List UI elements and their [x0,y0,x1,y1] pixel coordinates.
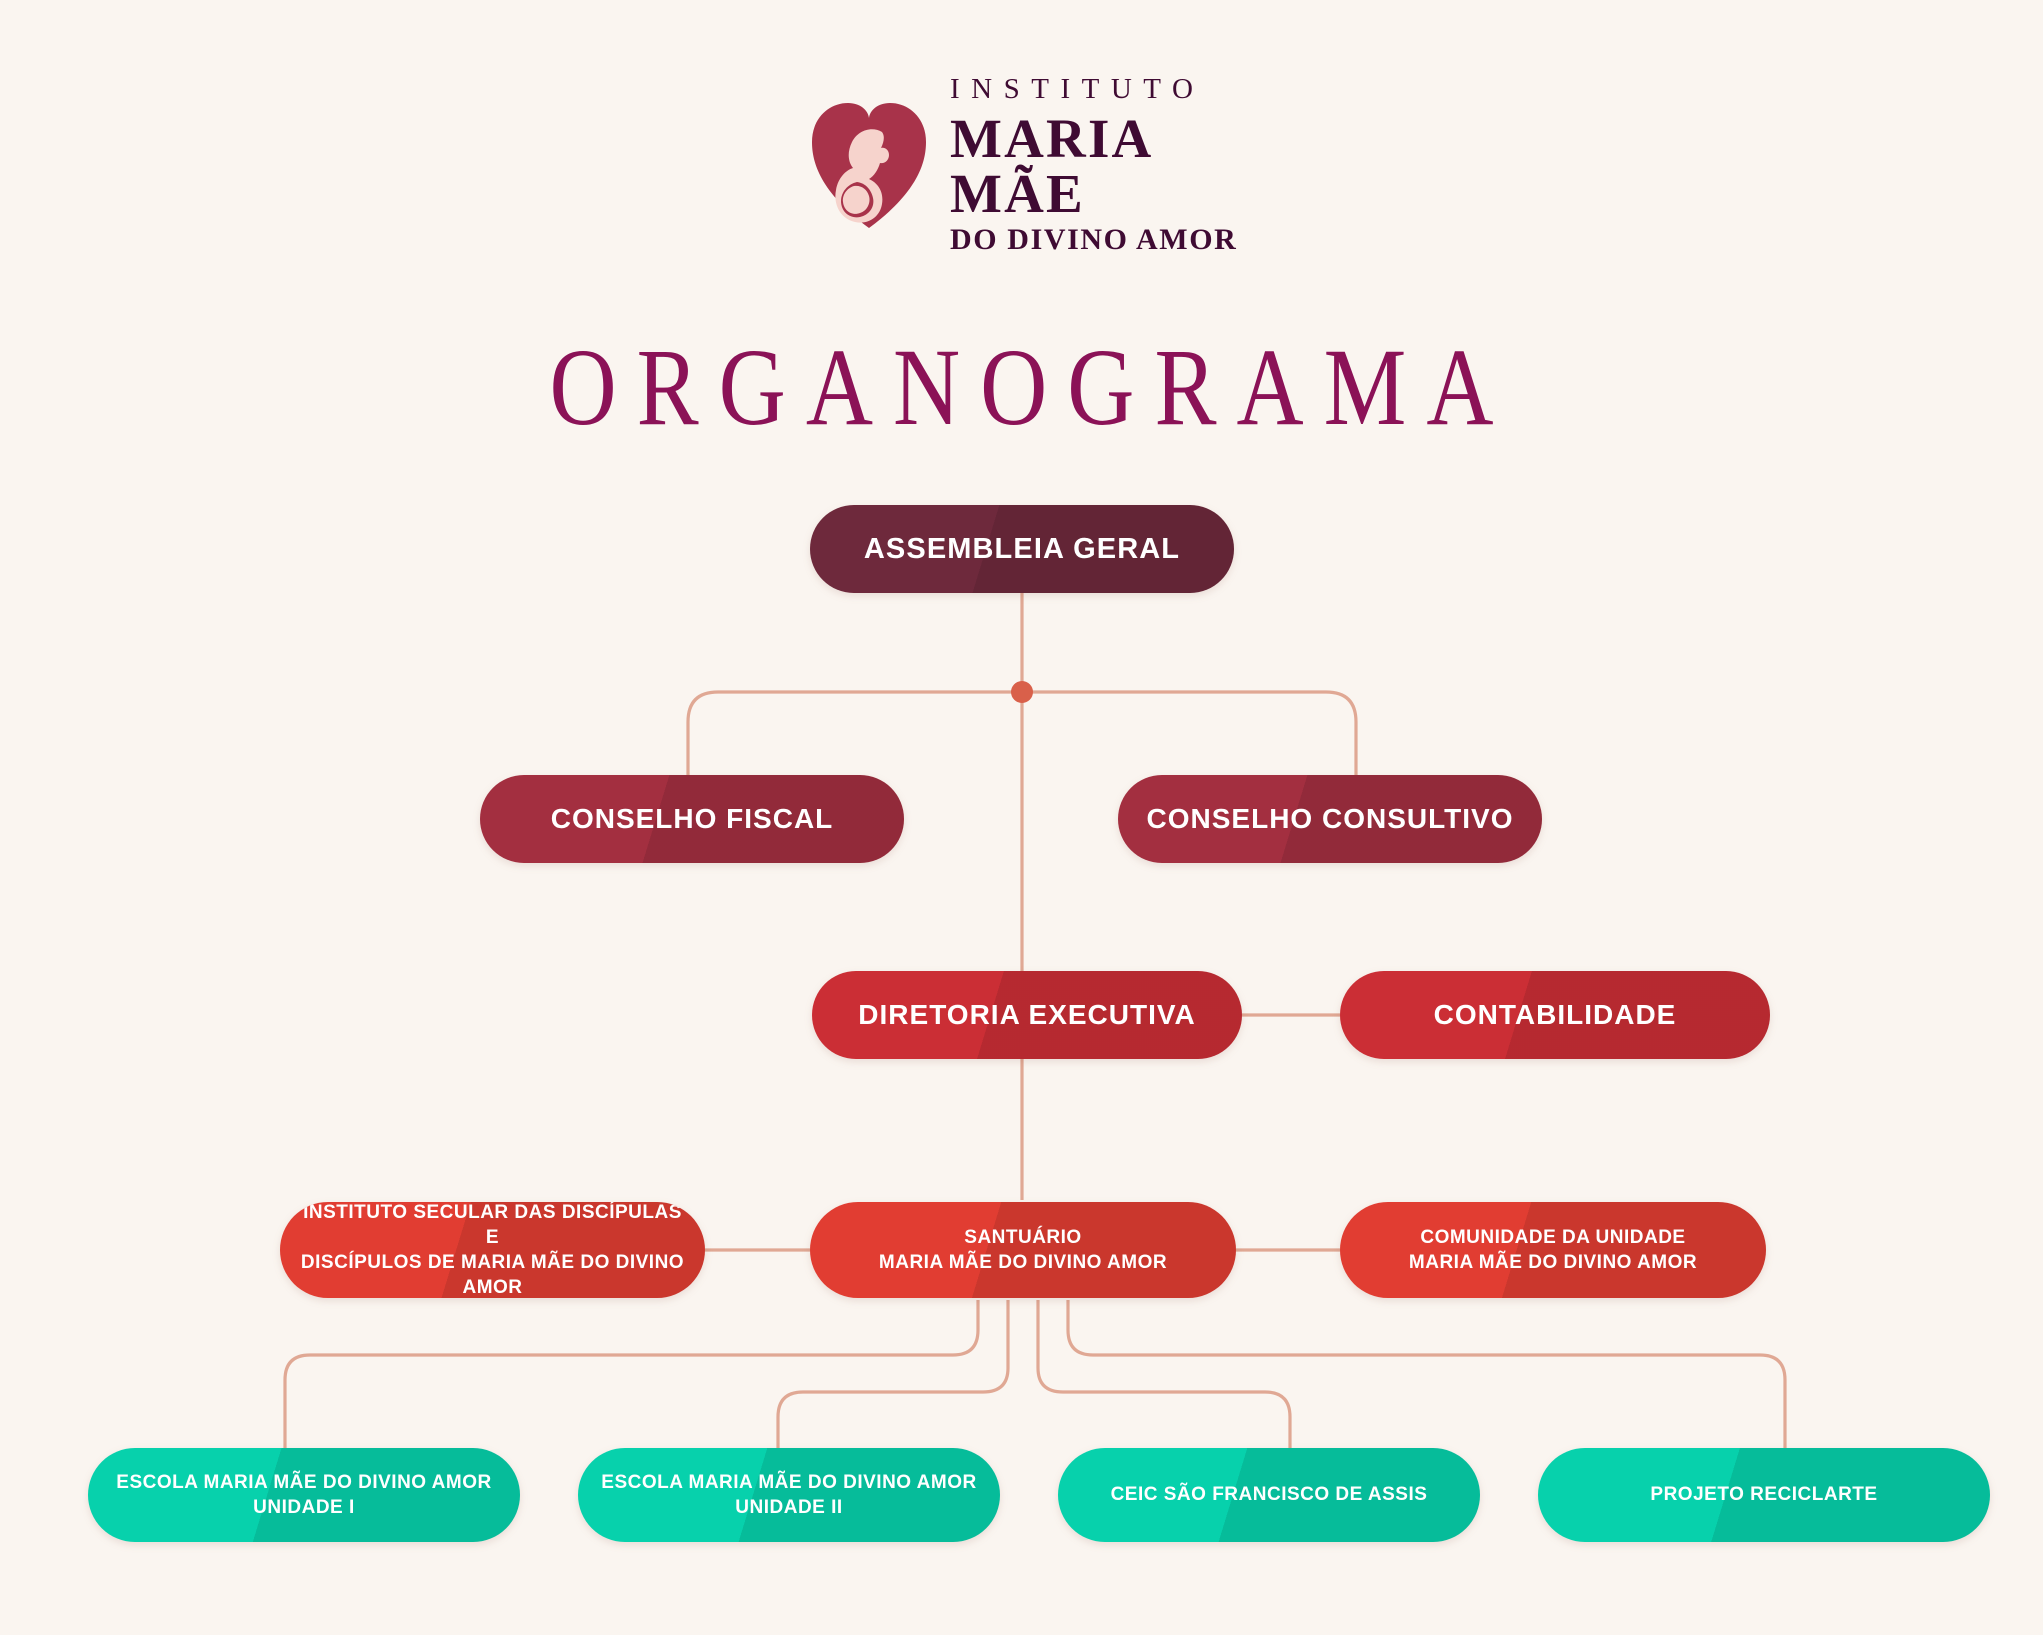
node-projeto-reciclarte[interactable]: PROJETO RECICLARTE [1538,1448,1990,1542]
node-label-line-2: DISCÍPULOS DE MARIA MÃE DO DIVINO AMOR [301,1252,684,1298]
node-label: ESCOLA MARIA MÃE DO DIVINO AMOR UNIDADE … [98,1470,509,1520]
node-ceic-sao-francisco[interactable]: CEIC SÃO FRANCISCO DE ASSIS [1058,1448,1480,1542]
node-assembleia-geral[interactable]: ASSEMBLEIA GERAL [810,505,1234,593]
node-label-line-2: MARIA MÃE DO DIVINO AMOR [1409,1252,1697,1273]
node-label-line-1: ESCOLA MARIA MÃE DO DIVINO AMOR [116,1472,491,1493]
edge-santuario-to-escola-unidade-i [285,1300,978,1448]
logo-line-maria-mae: MARIA MÃE [950,111,1270,221]
logo-line-do-divino-amor: DO DIVINO AMOR [950,225,1270,255]
node-escola-unidade-i[interactable]: ESCOLA MARIA MÃE DO DIVINO AMOR UNIDADE … [88,1448,520,1542]
node-label: CONTABILIDADE [1416,997,1695,1034]
node-label: ESCOLA MARIA MÃE DO DIVINO AMOR UNIDADE … [583,1470,994,1520]
node-comunidade-da-unidade[interactable]: COMUNIDADE DA UNIDADE MARIA MÃE DO DIVIN… [1340,1202,1766,1298]
node-contabilidade[interactable]: CONTABILIDADE [1340,971,1770,1059]
organization-logo: INSTITUTO MARIA MÃE DO DIVINO AMOR [810,95,1270,235]
node-label: COMUNIDADE DA UNIDADE MARIA MÃE DO DIVIN… [1391,1225,1715,1275]
logo-line-instituto: INSTITUTO [950,75,1270,104]
node-instituto-secular[interactable]: INSTITUTO SECULAR DAS DISCÍPULAS E DISCÍ… [280,1202,705,1298]
edge-santuario-to-escola-unidade-ii [778,1300,1008,1448]
node-label-line-2: UNIDADE II [735,1497,842,1518]
node-label: DIRETORIA EXECUTIVA [840,997,1213,1034]
node-label: CONSELHO FISCAL [533,801,852,838]
node-label-line-1: SANTUÁRIO [964,1227,1081,1248]
node-escola-unidade-ii[interactable]: ESCOLA MARIA MÃE DO DIVINO AMOR UNIDADE … [578,1448,1000,1542]
node-label-line-1: COMUNIDADE DA UNIDADE [1420,1227,1685,1248]
page-title: ORGANOGRAMA [0,325,2043,451]
junction-dot [1011,681,1033,703]
node-label: SANTUÁRIO MARIA MÃE DO DIVINO AMOR [861,1225,1185,1275]
node-label: PROJETO RECICLARTE [1632,1482,1895,1507]
edge-santuario-to-projeto-reciclarte [1068,1300,1785,1448]
node-diretoria-executiva[interactable]: DIRETORIA EXECUTIVA [812,971,1242,1059]
node-santuario[interactable]: SANTUÁRIO MARIA MÃE DO DIVINO AMOR [810,1202,1236,1298]
node-label-line-2: UNIDADE I [253,1497,355,1518]
node-conselho-consultivo[interactable]: CONSELHO CONSULTIVO [1118,775,1542,863]
edge-santuario-to-ceic-sao-francisco [1038,1300,1290,1448]
node-conselho-fiscal[interactable]: CONSELHO FISCAL [480,775,904,863]
heart-mother-and-child-icon [810,100,928,230]
node-label: CEIC SÃO FRANCISCO DE ASSIS [1093,1482,1446,1507]
edge-assembleia-to-conselho-fiscal [688,692,1022,775]
node-label: ASSEMBLEIA GERAL [846,530,1198,568]
node-label: CONSELHO CONSULTIVO [1129,801,1532,838]
organogram-canvas: INSTITUTO MARIA MÃE DO DIVINO AMOR ORGAN… [0,0,2043,1635]
node-label: INSTITUTO SECULAR DAS DISCÍPULAS E DISCÍ… [280,1202,705,1298]
node-label-line-2: MARIA MÃE DO DIVINO AMOR [879,1252,1167,1273]
node-label-line-1: INSTITUTO SECULAR DAS DISCÍPULAS E [303,1202,682,1248]
logo-wordmark: INSTITUTO MARIA MÃE DO DIVINO AMOR [950,75,1270,255]
node-label-line-1: ESCOLA MARIA MÃE DO DIVINO AMOR [601,1472,976,1493]
edge-assembleia-to-conselho-consultivo [1022,692,1356,775]
